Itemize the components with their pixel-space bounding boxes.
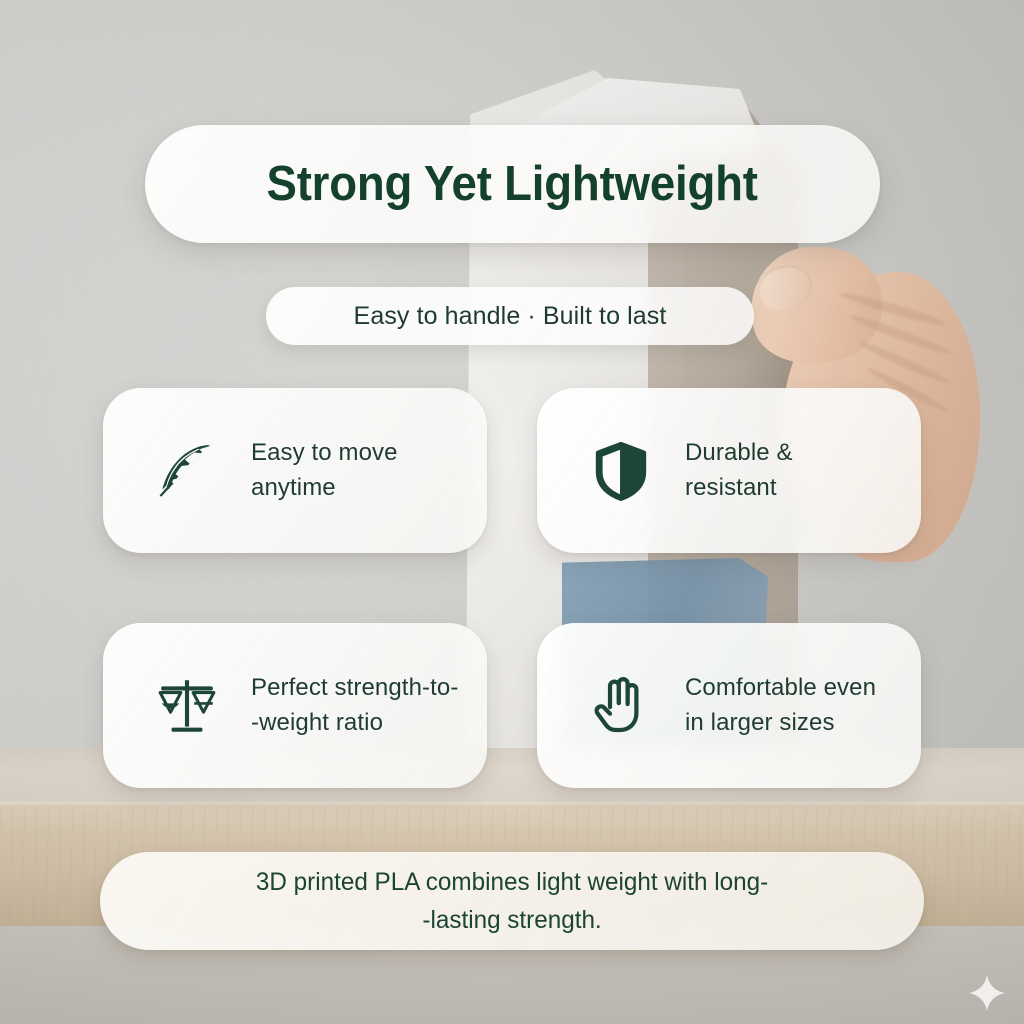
feature-card-grid: Easy to move anytime Durable & resistant xyxy=(103,388,921,788)
title-pill: Strong Yet Lightweight xyxy=(145,125,880,243)
page-title: Strong Yet Lightweight xyxy=(267,156,758,212)
shield-icon xyxy=(583,433,659,509)
feature-card-comfortable[interactable]: Comfortable even in larger sizes xyxy=(537,623,921,788)
product-feature-poster: Strong Yet Lightweight Easy to handle · … xyxy=(0,0,1024,1024)
feather-icon xyxy=(149,433,225,509)
footer-description: 3D printed PLA combines light weight wit… xyxy=(256,863,768,939)
balance-scale-icon xyxy=(149,668,225,744)
feature-card-strength-to-weight[interactable]: Perfect strength-to- -weight ratio xyxy=(103,623,487,788)
feature-label: Perfect strength-to- -weight ratio xyxy=(251,671,458,740)
page-subtitle: Easy to handle · Built to last xyxy=(354,302,667,331)
feature-label: Comfortable even in larger sizes xyxy=(685,671,876,740)
feature-card-durable[interactable]: Durable & resistant xyxy=(537,388,921,553)
feature-card-easy-to-move[interactable]: Easy to move anytime xyxy=(103,388,487,553)
feature-label: Durable & resistant xyxy=(685,436,793,505)
sparkle-icon xyxy=(966,972,1008,1014)
raised-hand-icon xyxy=(583,668,659,744)
footer-pill: 3D printed PLA combines light weight wit… xyxy=(100,852,924,950)
subtitle-pill: Easy to handle · Built to last xyxy=(266,287,754,345)
feature-label: Easy to move anytime xyxy=(251,436,398,505)
